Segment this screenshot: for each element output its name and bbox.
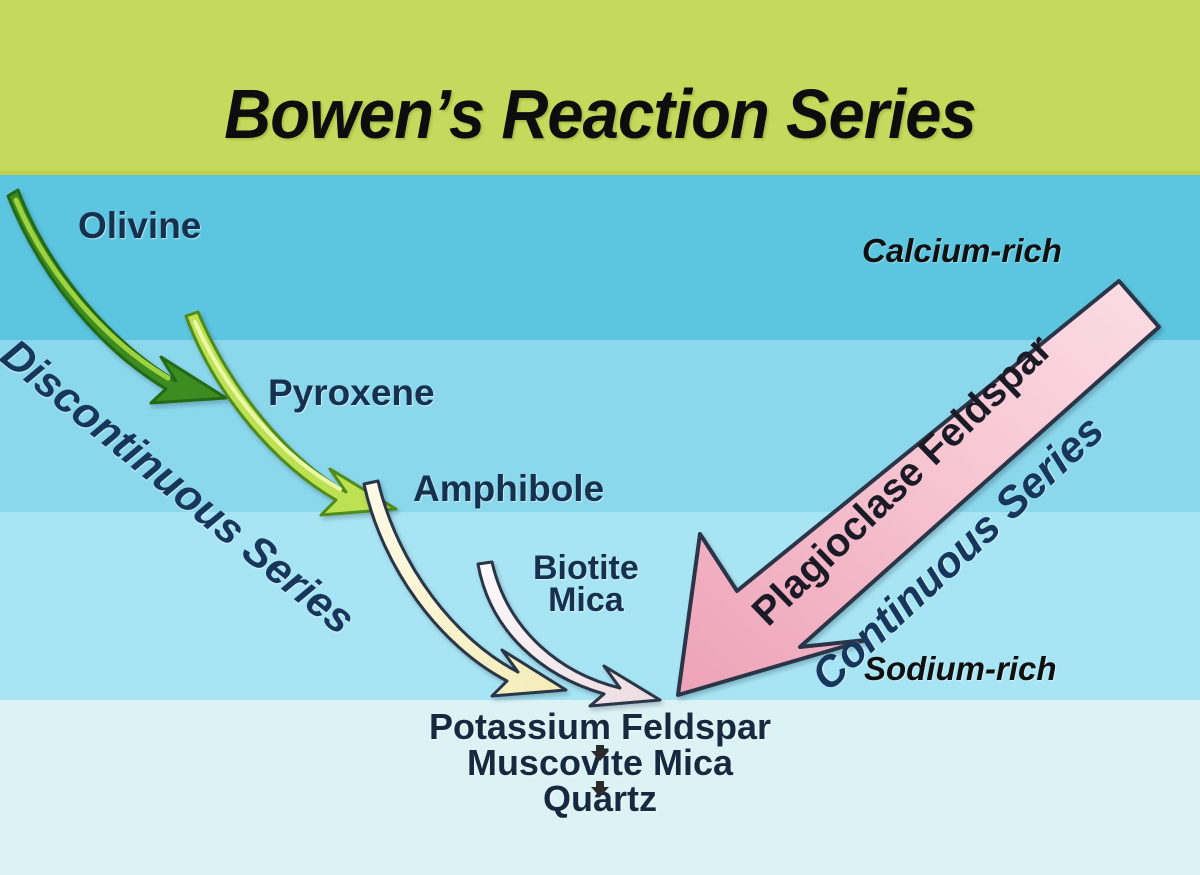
- mineral-label-olivine: Olivine: [78, 205, 201, 247]
- sodium-rich-label: Sodium-rich: [864, 650, 1057, 688]
- mineral-label-amphibole: Amphibole: [413, 468, 604, 510]
- mineral-label-pyroxene: Pyroxene: [268, 372, 435, 414]
- chain-item-potassium-feldspar: Potassium Feldspar: [0, 709, 1200, 745]
- mineral-label-biotite-line2: Mica: [533, 584, 639, 616]
- convergence-chain: Potassium Feldspar Muscovite Mica Quartz: [0, 709, 1200, 817]
- diagram-canvas: Bowen’s Reaction Series: [0, 0, 1200, 875]
- calcium-rich-label: Calcium-rich: [862, 232, 1062, 270]
- mineral-label-biotite-mica: Biotite Mica: [533, 552, 639, 617]
